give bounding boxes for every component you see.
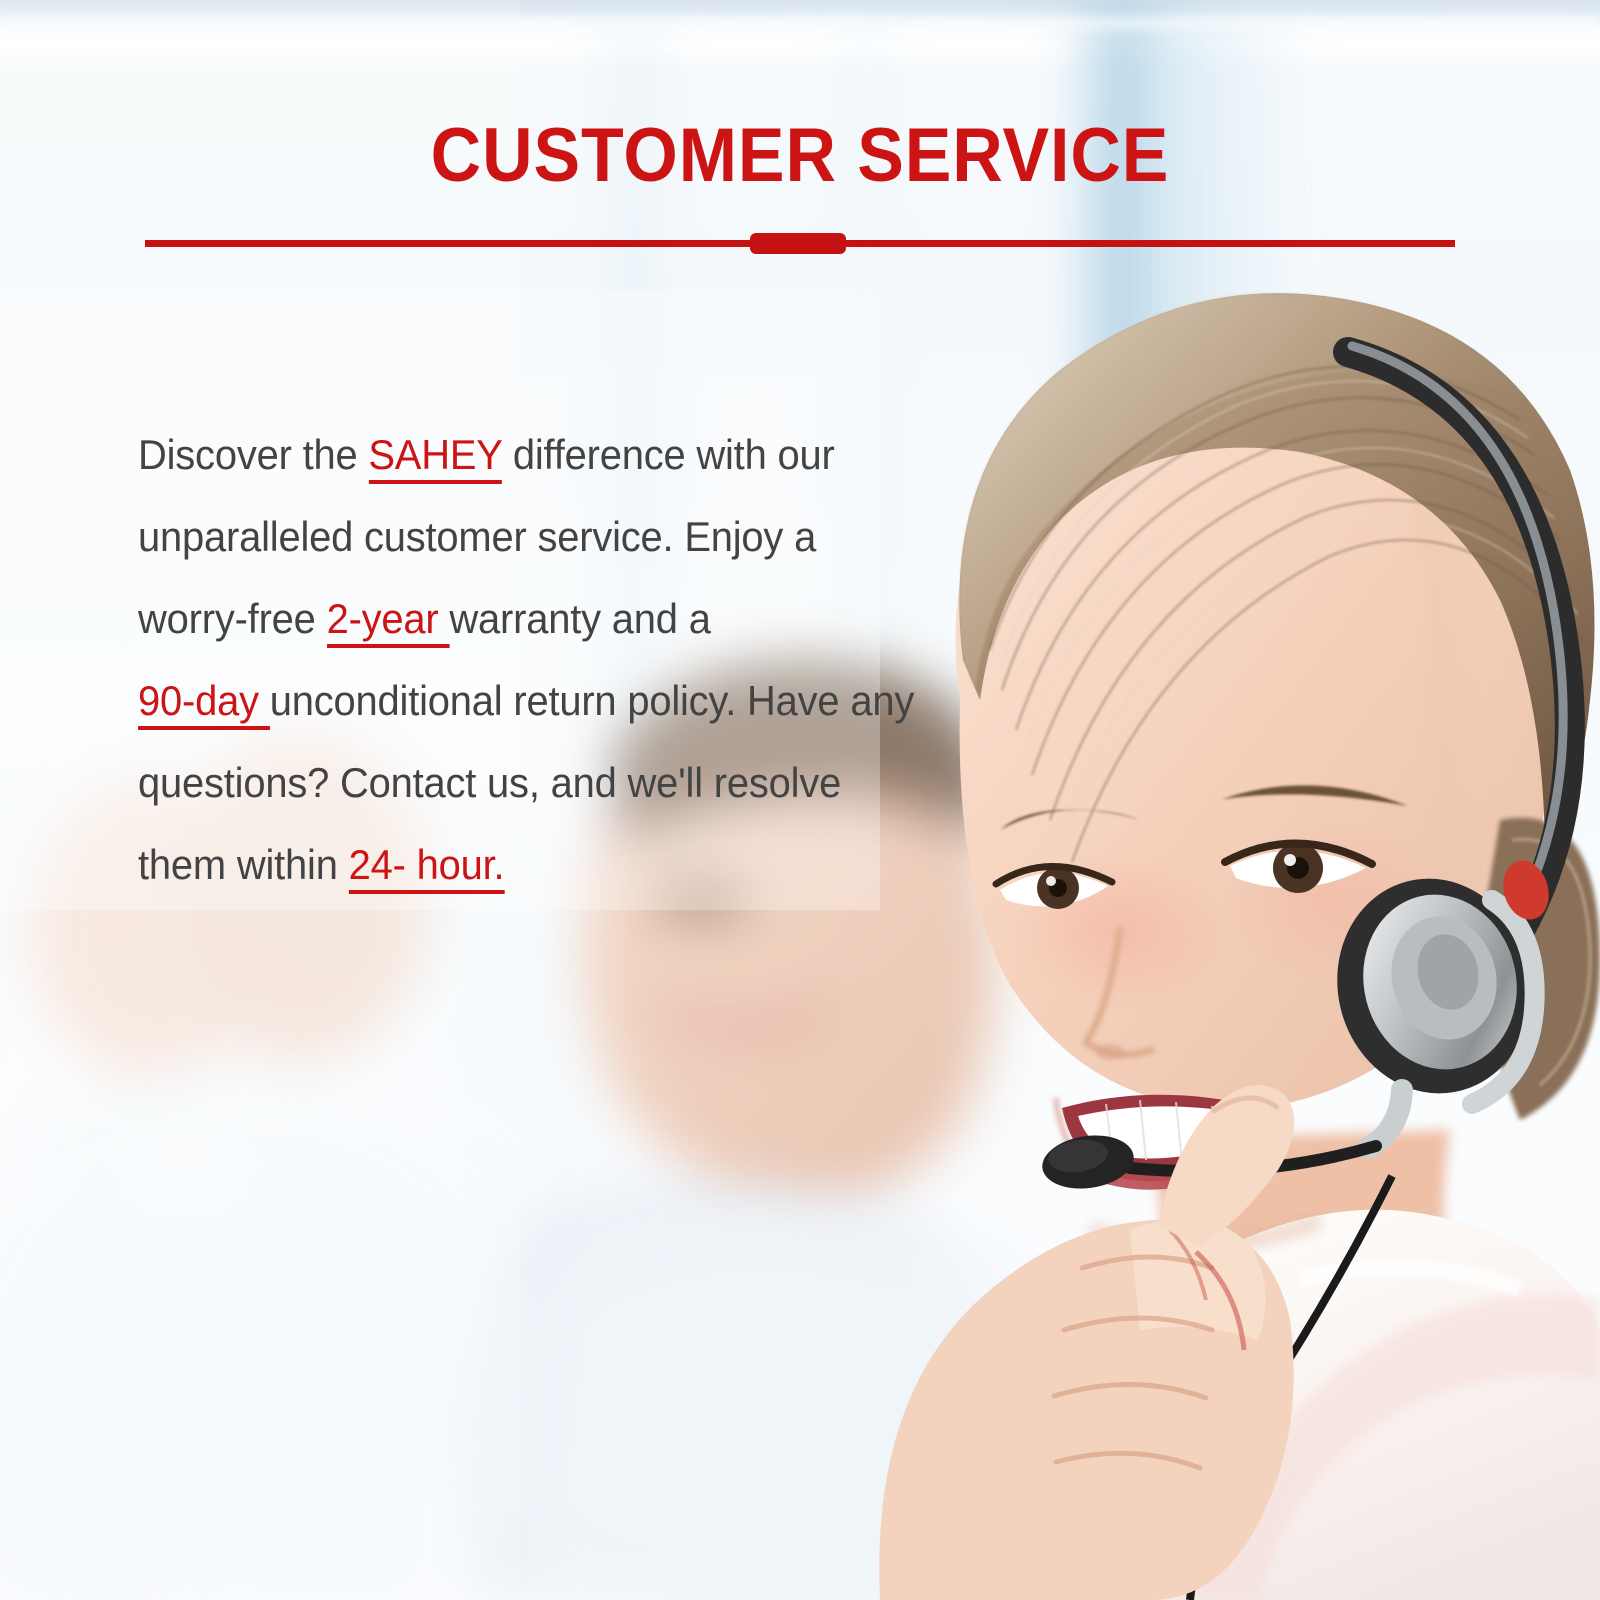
divider-center-knob — [750, 233, 846, 254]
customer-service-banner: CUSTOMER SERVICE Discover the SAHEY diff… — [0, 0, 1600, 1600]
copy-segment: Discover the — [138, 431, 368, 478]
highlight-response-time: 24- hour. — [349, 841, 505, 894]
highlight-warranty: 2-year — [327, 595, 450, 648]
highlight-brand: SAHEY — [368, 431, 502, 484]
page-title: CUSTOMER SERVICE — [64, 118, 1536, 194]
copy-segment: warranty and a — [449, 595, 710, 642]
body-copy: Discover the SAHEY difference with our u… — [138, 414, 917, 906]
background-glow-left — [0, 820, 640, 1600]
window-top-highlight — [0, 18, 1600, 34]
highlight-return-policy: 90-day — [138, 677, 270, 730]
